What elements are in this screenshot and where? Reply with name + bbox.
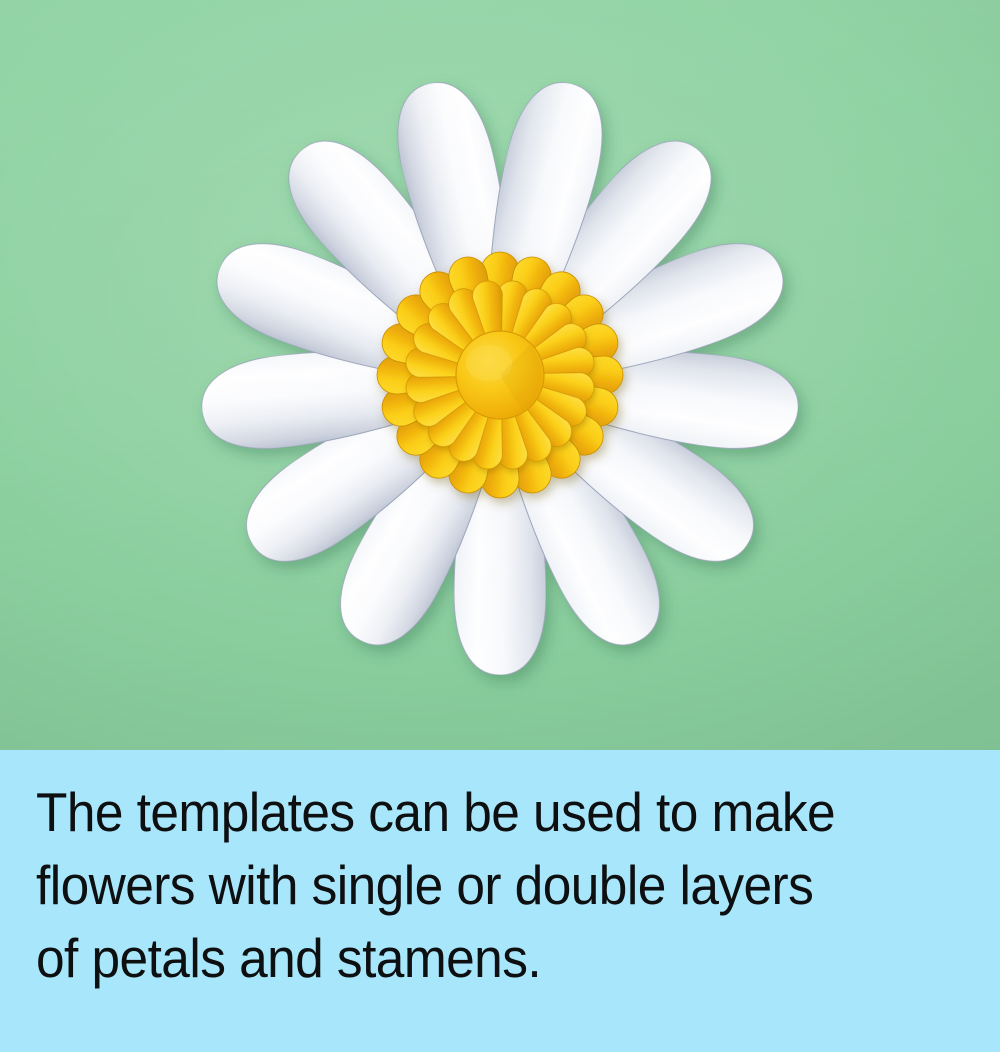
caption-band: The templates can be used to make flower… [0,750,1000,1052]
flower-photo [0,0,1000,750]
paper-daisy-illustration [0,0,1000,750]
caption-line-2: flowers with single or double layers [36,854,813,916]
caption-text: The templates can be used to make flower… [36,776,921,995]
caption-line-1: The templates can be used to make [36,781,835,843]
caption-line-3: of petals and stamens. [36,927,541,989]
stamen-center-disc [456,331,544,419]
screenshot-root: The templates can be used to make flower… [0,0,1000,1052]
